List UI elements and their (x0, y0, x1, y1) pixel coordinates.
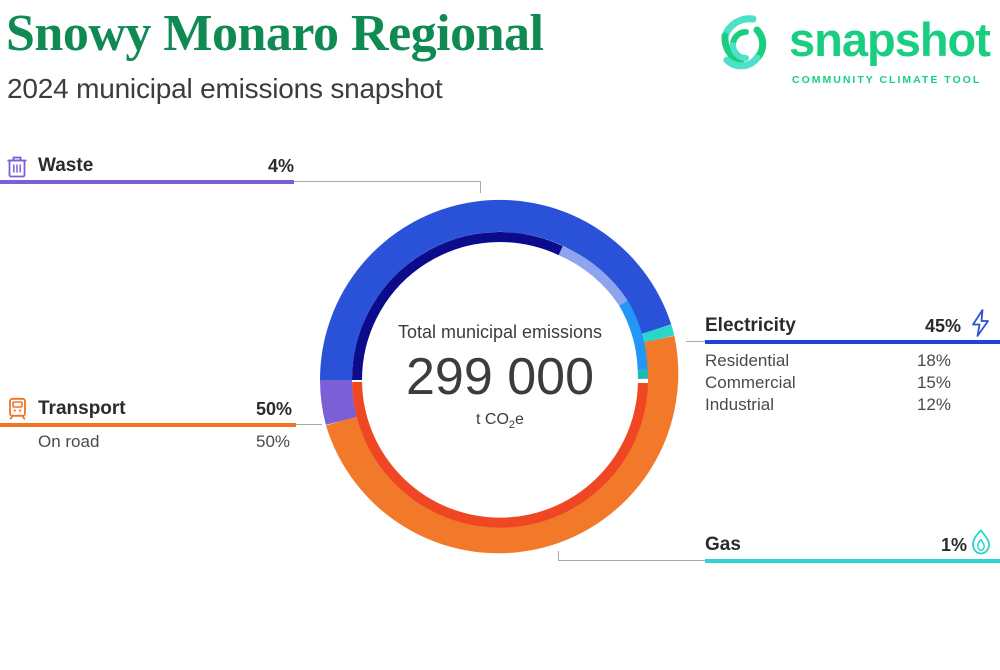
page-subtitle: 2024 municipal emissions snapshot (7, 72, 442, 106)
sub-percent-commercial: 15% (896, 372, 951, 394)
unit-prefix: t CO (476, 411, 509, 428)
flame-icon (968, 528, 994, 563)
logo-tagline: COMMUNITY CLIMATE TOOL (792, 74, 981, 87)
donut-center-label: Total municipal emissions (340, 320, 660, 344)
legend-electricity-sub-row: Residential 18% (686, 350, 1000, 372)
leader-transport-horizontal (296, 424, 322, 425)
lightning-bolt-icon (968, 308, 994, 343)
legend-electricity[interactable]: Electricity 45% Residential 18% Commerci… (686, 310, 1000, 406)
legend-waste-percent: 4% (268, 154, 294, 178)
legend-transport-label: Transport (38, 397, 126, 421)
legend-electricity-bar (705, 340, 1000, 344)
sub-label-on-road: On road (38, 431, 99, 453)
sub-percent-industrial: 12% (896, 394, 951, 416)
legend-transport-percent: 50% (256, 397, 292, 421)
legend-waste[interactable]: Waste 4% (0, 150, 500, 180)
leader-gas-horizontal (558, 560, 705, 561)
snapshot-swirl-icon (707, 10, 775, 78)
logo-wordmark: snapshot (789, 12, 990, 68)
leader-waste-tick (480, 181, 481, 193)
legend-gas-label: Gas (705, 533, 741, 557)
legend-gas-bar (705, 559, 1000, 563)
legend-waste-label: Waste (38, 154, 93, 178)
legend-gas[interactable]: Gas 1% (558, 529, 1000, 559)
donut-center-total: Total municipal emissions 299 000 t CO2e (340, 320, 660, 440)
legend-transport-sub-row: On road 50% (0, 431, 340, 453)
sub-label-industrial: Industrial (705, 394, 774, 416)
sub-percent-on-road: 50% (256, 431, 290, 453)
leader-electricity-horizontal (686, 341, 705, 342)
legend-electricity-sub-row: Commercial 15% (686, 372, 1000, 394)
legend-electricity-percent: 45% (925, 314, 961, 338)
emissions-snapshot-page: Snowy Monaro Regional 2024 municipal emi… (0, 0, 1000, 670)
snapshot-logo: snapshot COMMUNITY CLIMATE TOOL (707, 4, 1000, 92)
sub-label-residential: Residential (705, 350, 789, 372)
legend-electricity-sub-row: Industrial 12% (686, 394, 1000, 416)
sub-percent-residential: 18% (896, 350, 951, 372)
legend-gas-percent: 1% (941, 533, 967, 557)
unit-suffix: e (515, 411, 524, 428)
leader-waste-horizontal (294, 181, 480, 182)
sub-label-commercial: Commercial (705, 372, 796, 394)
donut-center-value: 299 000 (340, 346, 660, 408)
page-title: Snowy Monaro Regional (6, 4, 543, 64)
legend-transport-bar (0, 423, 296, 427)
legend-waste-bar (0, 180, 294, 184)
legend-transport[interactable]: Transport 50% On road 50% (0, 393, 340, 445)
legend-electricity-label: Electricity (705, 314, 796, 338)
donut-center-unit: t CO2e (340, 410, 660, 435)
